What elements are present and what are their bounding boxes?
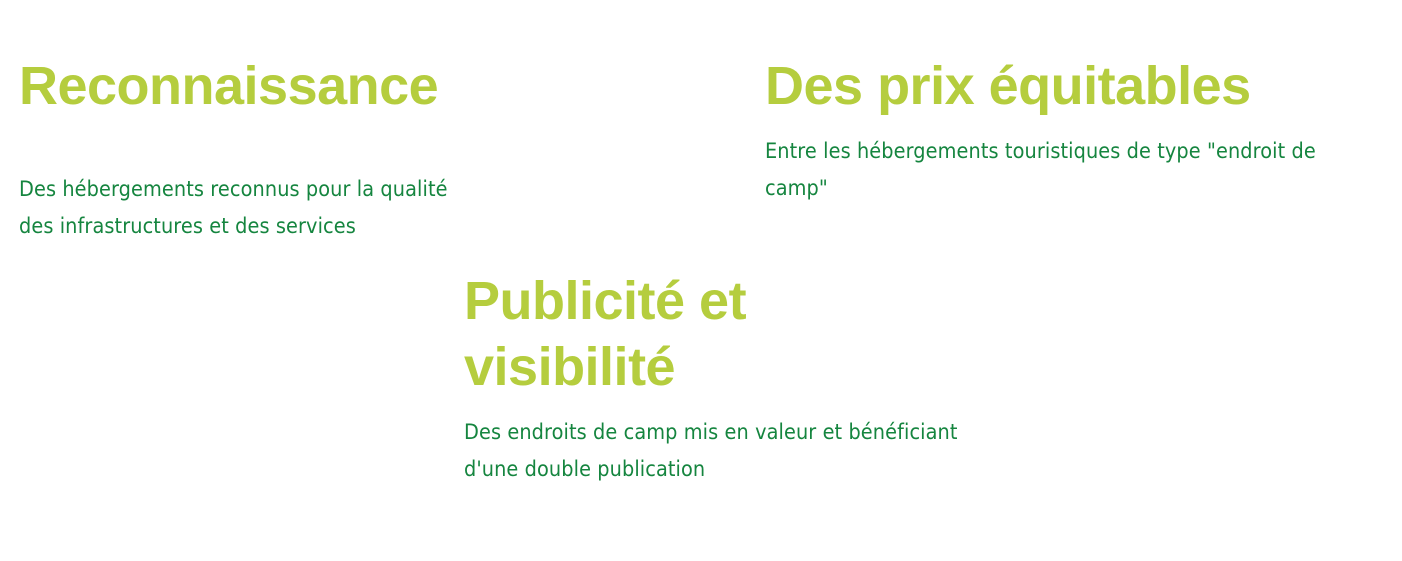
feature-body-recognition: Des hébergements reconnus pour la qualit… <box>19 171 488 245</box>
feature-body-visibility: Des endroits de camp mis en valeur et bé… <box>464 414 1016 488</box>
feature-heading-recognition: Reconnaissance <box>19 53 539 119</box>
feature-heading-fair-prices: Des prix équitables <box>765 53 1375 119</box>
feature-heading-visibility: Publicité et visibilité <box>464 268 794 400</box>
feature-block-recognition: Reconnaissance Des hébergements reconnus… <box>19 53 539 245</box>
page-canvas: Reconnaissance Des hébergements reconnus… <box>0 0 1402 561</box>
feature-block-fair-prices: Des prix équitables Entre les hébergemen… <box>765 53 1375 207</box>
feature-body-fair-prices: Entre les hébergements touristiques de t… <box>765 133 1322 207</box>
feature-block-visibility: Publicité et visibilité Des endroits de … <box>464 268 1074 488</box>
